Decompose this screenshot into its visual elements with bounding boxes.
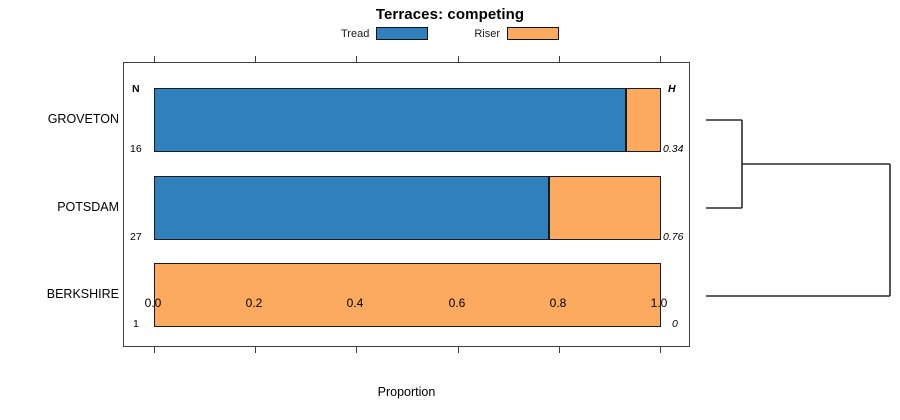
tick-top-4: [559, 56, 560, 63]
bar-row-potsdam: [154, 176, 661, 240]
bar-segment-groveton-tread[interactable]: [154, 88, 626, 152]
tick-bottom-5: [660, 346, 661, 353]
x-tick-label-2: 0.4: [347, 296, 364, 310]
tick-top-5: [660, 56, 661, 63]
category-label-potsdam: POTSDAM: [4, 200, 119, 214]
tick-bottom-3: [458, 346, 459, 353]
tick-bottom-1: [255, 346, 256, 353]
legend-swatch-tread: [376, 27, 428, 40]
h-value-groveton: 0.34: [663, 143, 683, 155]
x-tick-label-3: 0.6: [449, 296, 466, 310]
legend-label-tread: Tread: [341, 28, 369, 40]
h-value-berkshire: 0: [672, 318, 678, 330]
chart-root: Terraces: competing Tread Riser GROVETON…: [0, 0, 900, 420]
tick-top-2: [356, 56, 357, 63]
dendrogram: [690, 62, 900, 347]
category-label-groveton: GROVETON: [4, 112, 119, 126]
bar-segment-potsdam-riser[interactable]: [549, 176, 661, 240]
x-axis-title: Proportion: [123, 385, 690, 399]
x-tick-label-0: 0.0: [145, 296, 162, 310]
category-label-berkshire: BERKSHIRE: [4, 287, 119, 301]
x-tick-label-1: 0.2: [246, 296, 263, 310]
n-value-groveton: 16: [130, 143, 142, 155]
n-value-potsdam: 27: [130, 231, 142, 243]
legend-label-riser: Riser: [474, 28, 500, 40]
legend-swatch-riser: [507, 27, 559, 40]
n-value-berkshire: 1: [133, 318, 139, 330]
dendrogram-svg: [690, 62, 900, 347]
h-value-potsdam: 0.76: [663, 231, 683, 243]
legend-item-tread[interactable]: Tread: [341, 27, 428, 40]
bar-row-groveton: [154, 88, 661, 152]
tick-top-0: [154, 56, 155, 63]
tick-top-1: [255, 56, 256, 63]
column-header-n: N: [132, 83, 140, 95]
plot-panel: N H 16 27 1 0.34 0.76 0: [123, 62, 690, 347]
x-tick-label-5: 1.0: [651, 296, 668, 310]
x-tick-label-4: 0.8: [550, 296, 567, 310]
legend: Tread Riser: [0, 27, 900, 40]
bar-segment-berkshire-riser[interactable]: [154, 263, 661, 327]
tick-bottom-0: [154, 346, 155, 353]
tick-bottom-4: [559, 346, 560, 353]
chart-title: Terraces: competing: [0, 6, 900, 23]
bar-segment-groveton-riser[interactable]: [626, 88, 661, 152]
column-header-h: H: [668, 83, 676, 95]
legend-item-riser[interactable]: Riser: [474, 27, 559, 40]
bar-row-berkshire: [154, 263, 661, 327]
tick-top-3: [458, 56, 459, 63]
bar-segment-potsdam-tread[interactable]: [154, 176, 549, 240]
tick-bottom-2: [356, 346, 357, 353]
